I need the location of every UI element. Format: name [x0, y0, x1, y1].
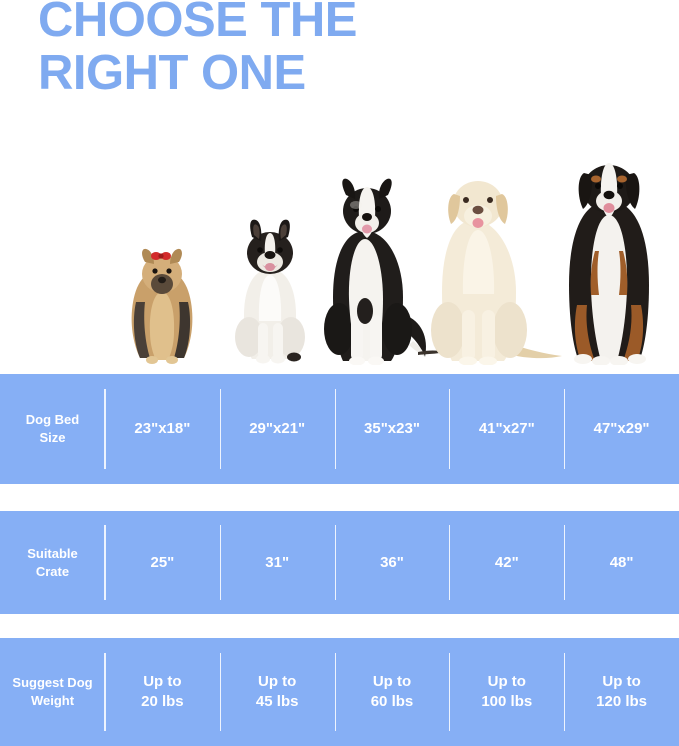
cell-suitable-crate-1: 25"	[105, 511, 220, 614]
cell-suitable-crate-2: 31"	[220, 511, 335, 614]
row-label-line-2: Size	[39, 430, 65, 445]
cell-value-line-2: 100 lbs	[481, 692, 532, 712]
cell-suggest-dog-weight-5: Up to 120 lbs	[564, 638, 679, 746]
dog-image-border-collie	[313, 175, 435, 365]
dog-image-french-bulldog	[222, 217, 318, 365]
cell-dog-bed-size-1: 23"x18"	[105, 374, 220, 484]
cell-value: 25"	[151, 554, 175, 571]
cell-value-line-1: Up to	[373, 673, 411, 690]
cell-value-line-2: 20 lbs	[141, 692, 184, 712]
cell-suggest-dog-weight-1: Up to 20 lbs	[105, 638, 220, 746]
page-title: CHOOSE THE RIGHT ONE	[38, 0, 638, 100]
cell-value-line-1: Up to	[488, 673, 526, 690]
cell-value: 35"x23"	[364, 420, 420, 437]
cell-value: 48"	[610, 554, 634, 571]
cell-value: 47"x29"	[594, 420, 650, 437]
cell-value: 23"x18"	[134, 420, 190, 437]
cell-dog-bed-size-3: 35"x23"	[335, 374, 450, 484]
row-label-line-1: Dog Bed	[26, 412, 79, 427]
cell-value-line-2: 45 lbs	[256, 692, 299, 712]
cell-value: 29"x21"	[249, 420, 305, 437]
row-label-suitable-crate: Suitable Crate	[0, 511, 105, 614]
dog-image-bernese-mountain-dog	[551, 155, 667, 365]
cell-value: 36"	[380, 554, 404, 571]
row-label-line-2: Weight	[31, 693, 74, 708]
table-row-dog-bed-size: Dog Bed Size 23"x18" 29"x21" 35"x23" 41"…	[0, 374, 679, 484]
table-row-suggest-dog-weight: Suggest Dog Weight Up to 20 lbs Up to 45…	[0, 638, 679, 746]
cell-value: 42"	[495, 554, 519, 571]
row-label-line-2: Crate	[36, 564, 69, 579]
cell-dog-bed-size-5: 47"x29"	[564, 374, 679, 484]
cell-value-line-1: Up to	[143, 673, 181, 690]
cell-value: 31"	[265, 554, 289, 571]
cell-suggest-dog-weight-2: Up to 45 lbs	[220, 638, 335, 746]
cell-value-line-1: Up to	[602, 673, 640, 690]
page-title-line-2: RIGHT ONE	[38, 47, 638, 100]
cell-suitable-crate-5: 48"	[564, 511, 679, 614]
cell-dog-bed-size-2: 29"x21"	[220, 374, 335, 484]
cell-suitable-crate-3: 36"	[335, 511, 450, 614]
row-label-suggest-dog-weight: Suggest Dog Weight	[0, 638, 105, 746]
dog-size-illustration-row	[0, 150, 679, 365]
table-row-suitable-crate: Suitable Crate 25" 31" 36" 42" 48"	[0, 511, 679, 614]
cell-suitable-crate-4: 42"	[449, 511, 564, 614]
cell-suggest-dog-weight-4: Up to 100 lbs	[449, 638, 564, 746]
cell-dog-bed-size-4: 41"x27"	[449, 374, 564, 484]
cell-value: 41"x27"	[479, 420, 535, 437]
dog-image-labrador-retriever	[418, 170, 564, 365]
row-label-line-1: Suitable	[27, 546, 78, 561]
row-label-dog-bed-size: Dog Bed Size	[0, 374, 105, 484]
row-label-line-1: Suggest Dog	[12, 675, 92, 690]
cell-value-line-2: 120 lbs	[596, 692, 647, 712]
cell-value-line-1: Up to	[258, 673, 296, 690]
cell-suggest-dog-weight-3: Up to 60 lbs	[335, 638, 450, 746]
cell-value-line-2: 60 lbs	[371, 692, 414, 712]
dog-image-yorkshire-terrier	[112, 240, 212, 365]
page-title-line-1: CHOOSE THE	[38, 0, 638, 47]
